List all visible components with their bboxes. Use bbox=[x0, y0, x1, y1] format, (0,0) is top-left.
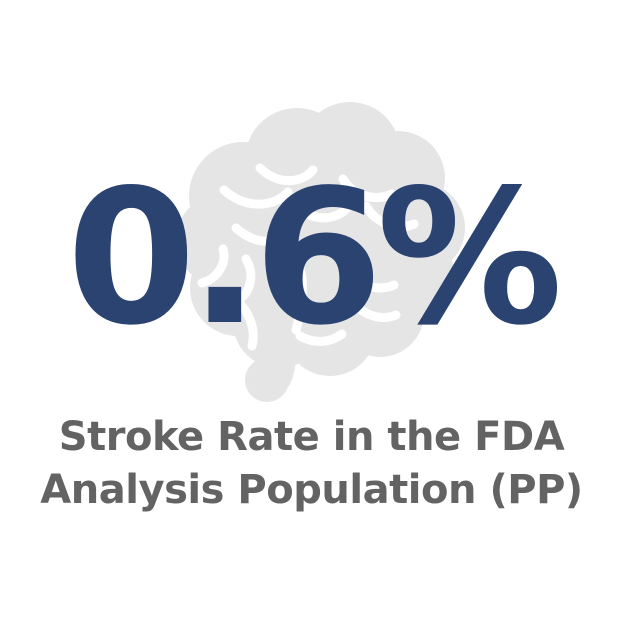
stat-infographic-card: 0.6% Stroke Rate in the FDA Analysis Pop… bbox=[0, 0, 623, 623]
stat-caption: Stroke Rate in the FDA Analysis Populati… bbox=[0, 411, 623, 517]
stat-value: 0.6% bbox=[67, 165, 557, 351]
stat-value-container: 0.6% bbox=[0, 168, 623, 348]
